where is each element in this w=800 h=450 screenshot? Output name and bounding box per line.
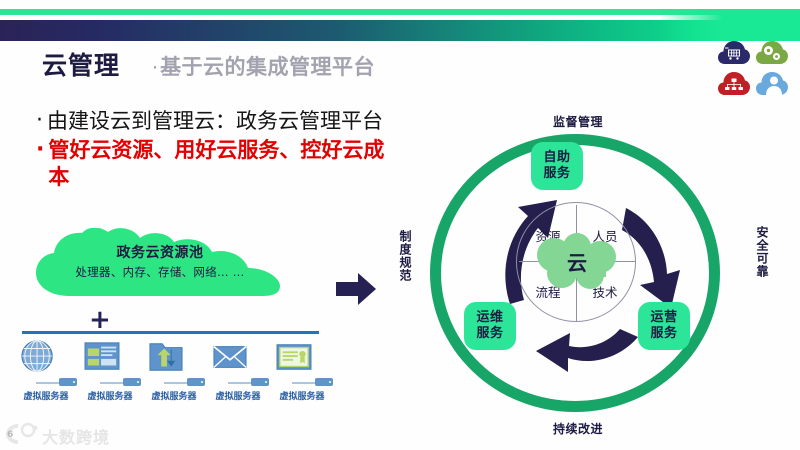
virtual-server-row: 虚拟服务器 虚拟服务器	[14, 340, 334, 402]
title-subtitle-text: 基于云的集成管理平台	[160, 51, 375, 81]
bullet-item-2: · 管好云资源、用好云服务、控好云成本	[36, 137, 386, 191]
resource-pool-cloud: 政务云资源池 处理器、内存、存储、网络… …	[30, 228, 290, 300]
bullet-list: · 由建设云到管理云：政务云管理平台 · 管好云资源、用好云服务、控好云成本	[36, 108, 386, 193]
watermark-text: 大数跨境	[42, 424, 110, 448]
right-arrow-icon	[336, 272, 376, 306]
browser-window-icon	[83, 340, 121, 374]
gears-cloud-icon	[756, 40, 788, 65]
page-title: 云管理 · 基于云的集成管理平台	[42, 46, 375, 82]
divider-line	[22, 331, 319, 334]
server-item-1[interactable]: 虚拟服务器	[14, 340, 78, 402]
plus-sign: +	[89, 309, 111, 331]
page-number: 6	[7, 430, 13, 440]
pillar-line-2: 服务	[543, 166, 570, 182]
resource-pool-subtitle: 处理器、内存、存储、网络… …	[30, 264, 290, 280]
server-label: 虚拟服务器	[10, 389, 82, 402]
network-cloud-icon	[718, 71, 750, 96]
server-label: 虚拟服务器	[138, 389, 210, 402]
server-item-4[interactable]: 虚拟服务器	[206, 340, 270, 402]
envelope-icon	[211, 340, 249, 374]
server-label: 虚拟服务器	[202, 389, 274, 402]
inner-cloud-shape: 云	[534, 233, 620, 291]
folder-transfer-icon	[147, 340, 185, 374]
watermark: 大数跨境	[4, 420, 134, 448]
server-item-5[interactable]: 虚拟服务器	[270, 340, 334, 402]
inner-cloud-label: 云	[534, 247, 620, 276]
top-green-overlay-right	[660, 9, 800, 41]
server-box-icon	[123, 378, 141, 386]
server-box-icon	[187, 378, 205, 386]
server-label: 虚拟服务器	[74, 389, 146, 402]
server-item-3[interactable]: 虚拟服务器	[142, 340, 206, 402]
pillar-operation-service[interactable]: 运营 服务	[638, 302, 690, 350]
cloud-management-diagram: 监督管理 持续改进 制度规范 安全可靠 资源 人员 流程	[388, 108, 792, 438]
resource-pool-title: 政务云资源池	[30, 242, 290, 262]
pillar-line-2: 服务	[476, 326, 503, 342]
bullet-marker: ·	[36, 108, 43, 134]
title-separator-dot: ·	[152, 59, 158, 78]
arrow-left-bottom-icon	[536, 329, 638, 372]
bullet-marker: ·	[36, 137, 44, 163]
bullet-text: 管好云资源、用好云服务、控好云成本	[48, 137, 386, 191]
pillar-line-2: 服务	[650, 326, 677, 342]
pillar-line-1: 自助	[543, 150, 570, 166]
server-box-icon	[315, 378, 333, 386]
certificate-icon	[275, 340, 313, 374]
bullet-text: 由建设云到管理云：政务云管理平台	[47, 108, 383, 135]
pillar-line-1: 运维	[476, 310, 503, 326]
cloud-icon-group	[718, 40, 790, 98]
pillar-self-service[interactable]: 自助 服务	[531, 142, 583, 190]
server-box-icon	[251, 378, 269, 386]
user-cloud-icon	[756, 71, 788, 96]
server-item-2[interactable]: 虚拟服务器	[78, 340, 142, 402]
globe-icon	[19, 340, 57, 374]
title-main-text: 云管理	[42, 46, 120, 82]
pillar-ops-service[interactable]: 运维 服务	[464, 302, 516, 350]
server-box-icon	[59, 378, 77, 386]
server-label: 虚拟服务器	[266, 389, 338, 402]
slide-canvas: 云管理 · 基于云的集成管理平台	[0, 0, 800, 450]
cart-cloud-icon	[718, 40, 750, 65]
bullet-item-1: · 由建设云到管理云：政务云管理平台	[36, 108, 386, 135]
pillar-line-1: 运营	[650, 310, 677, 326]
